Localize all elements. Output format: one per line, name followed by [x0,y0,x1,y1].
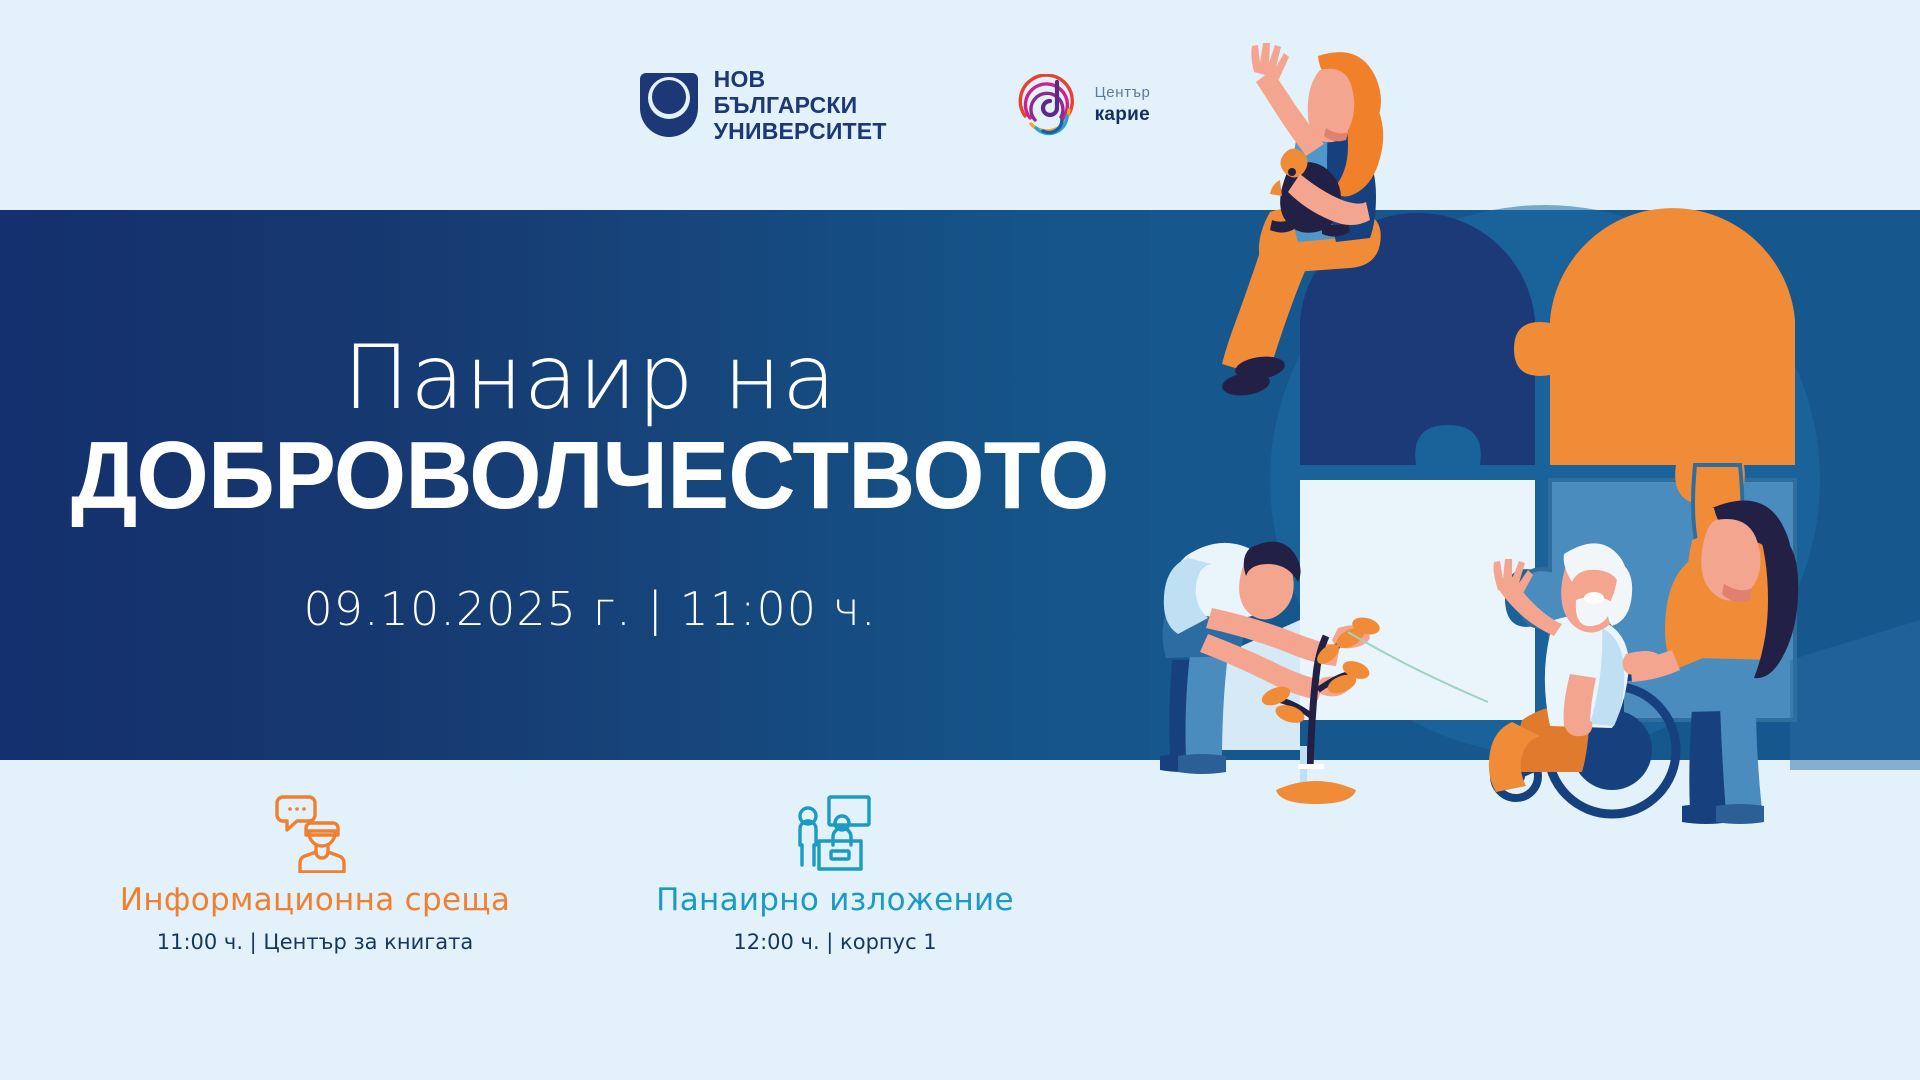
session-fair-exhibition: Панаирно изложение 12:00 ч. | корпус 1 [635,788,1035,954]
session-details: 12:00 ч. | корпус 1 [733,930,936,954]
concentric-arcs-icon [1017,74,1079,136]
session-info-meeting: Информационна среща 11:00 ч. | Център за… [115,788,515,954]
poster-root: НОВ БЪЛГАРСКИ УНИВЕРСИТЕТ [0,0,1920,1080]
footer-sessions: Информационна среща 11:00 ч. | Център за… [0,760,1150,1080]
person-speech-bubble-icon [273,788,357,874]
banner-datetime: 09.10.2025 г. | 11:00 ч. [304,582,877,636]
nbu-logo-line-3: УНИВЕРСИТЕТ [714,118,887,144]
volunteering-puzzle-illustration [1150,0,1920,970]
nbu-logo: НОВ БЪЛГАРСКИ УНИВЕРСИТЕТ [640,66,887,144]
nbu-logo-line-1: НОВ [714,66,887,92]
session-title: Информационна среща [120,882,510,918]
banner-text-block: Панаир на ДОБРОВОЛЧЕСТВОТО 09.10.2025 г.… [0,210,1150,760]
banner-title-line-2: ДОБРОВОЛЧЕСТВОТО [71,428,1109,524]
nbu-logo-line-2: БЪЛГАРСКИ [714,92,887,118]
nbu-cup-circle-icon [640,73,698,137]
nbu-logo-text: НОВ БЪЛГАРСКИ УНИВЕРСИТЕТ [714,66,887,144]
session-title: Панаирно изложение [656,882,1014,918]
exhibition-booth-icon [793,788,877,874]
banner-title-line-1: Панаир на [343,334,837,422]
session-details: 11:00 ч. | Център за книгата [157,930,474,954]
